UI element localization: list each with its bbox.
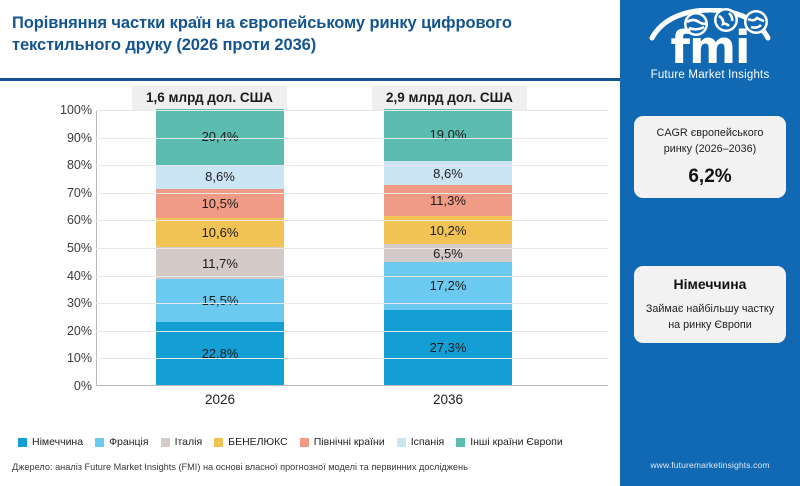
website-url: www.futuremarketinsights.com — [620, 460, 800, 470]
bar-segment[interactable]: 19,0% — [384, 109, 512, 161]
gridline-70 — [96, 193, 608, 194]
bar-segment[interactable]: 11,7% — [156, 247, 284, 279]
y-axis-tick-10: 10% — [67, 351, 92, 365]
chart-legend: НімеччинаФранціяІталіяБЕНЕЛЮКСПівнічні к… — [18, 432, 614, 452]
legend-swatch-icon — [95, 438, 104, 447]
page-title-wrap: Порівняння частки країн на європейському… — [12, 12, 607, 57]
legend-swatch-icon — [161, 438, 170, 447]
logo-mark: fmi — [634, 8, 786, 68]
grid-and-bars: 22,8%15,5%11,7%10,6%10,5%8,6%20,4% 27,3%… — [96, 110, 608, 386]
stacked-bar-2036[interactable]: 27,3%17,2%6,5%10,2%11,3%8,6%19,0% — [384, 109, 512, 385]
bar-segment-label: 10,5% — [202, 196, 239, 211]
bar-segment-label: 11,3% — [430, 193, 466, 208]
legend-label: Німеччина — [32, 436, 83, 448]
plot-area: 1,6 млрд дол. США 2,9 млрд дол. США 0%10… — [0, 84, 620, 432]
bar-segment-label: 10,2% — [430, 223, 467, 238]
legend-item[interactable]: Франція — [95, 436, 149, 448]
stacked-bar-2026[interactable]: 22,8%15,5%11,7%10,6%10,5%8,6%20,4% — [156, 109, 284, 385]
y-axis-tick-70: 70% — [67, 186, 92, 200]
bar-segment[interactable]: 6,5% — [384, 244, 512, 262]
cagr-card-label: CAGR європейського ринку (2026–2036) — [642, 126, 778, 157]
chart-panel: Порівняння частки країн на європейському… — [0, 0, 620, 486]
fmi-logo: fmi Future Market Insights — [620, 8, 800, 92]
bar-segment[interactable]: 15,5% — [156, 279, 284, 322]
y-axis-tick-50: 50% — [67, 241, 92, 255]
logo-wordmark: fmi — [634, 25, 786, 70]
bar-annotation-2036: 2,9 млрд дол. США — [372, 86, 527, 110]
x-axis-label-2026: 2026 — [156, 392, 284, 407]
brand-sidebar: fmi Future Market Insights CAGR європейс… — [620, 0, 800, 486]
legend-swatch-icon — [18, 438, 27, 447]
axis-area: 0%10%20%30%40%50%60%70%80%90%100% 22,8%1… — [0, 110, 620, 406]
legend-item[interactable]: Італія — [161, 436, 203, 448]
y-axis-tick-40: 40% — [67, 269, 92, 283]
source-note: Джерело: аналіз Future Market Insights (… — [12, 462, 612, 472]
legend-item[interactable]: Іспанія — [397, 436, 445, 448]
gridline-40 — [96, 276, 608, 277]
bar-segment[interactable]: 11,3% — [384, 185, 512, 216]
y-axis-tick-30: 30% — [67, 296, 92, 310]
title-divider — [0, 78, 620, 81]
legend-item[interactable]: Північні країни — [300, 436, 385, 448]
bar-segment-label: 11,7% — [202, 256, 238, 271]
gridline-100 — [96, 110, 608, 111]
y-axis-tick-0: 0% — [74, 379, 92, 393]
gridline-20 — [96, 331, 608, 332]
bar-segment[interactable]: 27,3% — [384, 310, 512, 385]
bar-segment-label: 10,6% — [202, 225, 239, 240]
bar-segment-label: 8,6% — [205, 169, 235, 184]
legend-label: Північні країни — [314, 436, 385, 448]
y-axis-tick-90: 90% — [67, 131, 92, 145]
legend-item[interactable]: Інші країни Європи — [456, 436, 563, 448]
legend-swatch-icon — [214, 438, 223, 447]
cagr-card-value: 6,2% — [642, 166, 778, 188]
legend-label: БЕНЕЛЮКС — [228, 436, 288, 448]
bar-segment[interactable]: 10,6% — [156, 218, 284, 247]
bar-segment[interactable]: 8,6% — [156, 165, 284, 189]
bar-segment-label: 27,3% — [430, 340, 467, 355]
top-country-description: Займає найбільшу частку на ринку Європи — [642, 301, 778, 333]
gridline-80 — [96, 165, 608, 166]
y-axis-tick-20: 20% — [67, 324, 92, 338]
legend-label: Інші країни Європи — [470, 436, 563, 448]
cagr-card: CAGR європейського ринку (2026–2036) 6,2… — [634, 116, 786, 198]
legend-label: Іспанія — [411, 436, 445, 448]
legend-swatch-icon — [300, 438, 309, 447]
bar-segment-label: 8,6% — [433, 166, 463, 181]
legend-label: Франція — [109, 436, 149, 448]
bar-segment-label: 19,0% — [430, 127, 467, 142]
bar-annotation-2026: 1,6 млрд дол. США — [132, 86, 287, 110]
y-axis-tick-60: 60% — [67, 213, 92, 227]
gridline-50 — [96, 248, 608, 249]
top-country-title: Німеччина — [642, 276, 778, 292]
bar-segment-label: 15,5% — [202, 293, 239, 308]
legend-swatch-icon — [456, 438, 465, 447]
page-title: Порівняння частки країн на європейському… — [12, 12, 607, 57]
x-axis-label-2036: 2036 — [384, 392, 512, 407]
legend-label: Італія — [175, 436, 203, 448]
bar-segment-label: 17,2% — [430, 278, 467, 293]
y-axis-tick-100: 100% — [60, 103, 92, 117]
top-country-card: Німеччина Займає найбільшу частку на рин… — [634, 266, 786, 343]
gridline-30 — [96, 303, 608, 304]
y-axis-labels: 0%10%20%30%40%50%60%70%80%90%100% — [40, 110, 92, 386]
y-axis-tick-80: 80% — [67, 158, 92, 172]
gridline-10 — [96, 358, 608, 359]
gridline-60 — [96, 220, 608, 221]
gridline-90 — [96, 138, 608, 139]
x-axis-labels: 2026 2036 — [96, 392, 608, 416]
legend-swatch-icon — [397, 438, 406, 447]
legend-item[interactable]: Німеччина — [18, 436, 83, 448]
legend-item[interactable]: БЕНЕЛЮКС — [214, 436, 288, 448]
x-axis-line — [96, 385, 608, 386]
infographic-page: Порівняння частки країн на європейському… — [0, 0, 800, 486]
